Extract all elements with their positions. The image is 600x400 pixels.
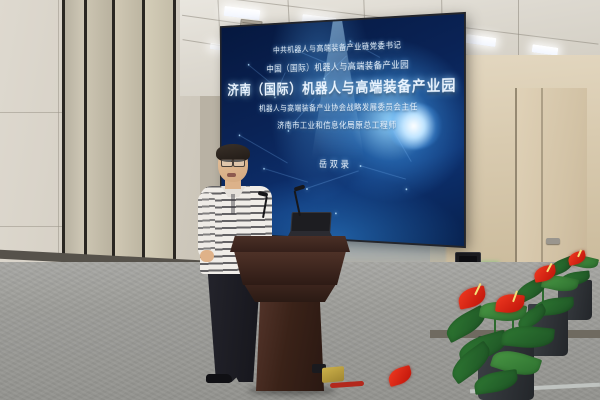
wall-panel-1 [62,0,84,268]
door-handle-icon[interactable] [546,238,560,244]
podium [230,236,350,386]
presenter-shoe [206,374,232,383]
screen-line-2: 中国（国际）机器人与高端装备产业园 [222,55,464,76]
podium-top [230,236,350,252]
screen-line-5: 济南市工业和信息化局原总工程师 [222,118,464,131]
power-box [322,366,344,383]
screen-title: 济南（国际）机器人与高端装备产业园 [222,74,464,99]
podium-column [256,301,324,391]
screenshot-root: 中共机器人与高端装备产业链党委书记 中国（国际）机器人与高端装备产业园 济南（国… [0,0,600,400]
screen-line-1: 中共机器人与高端装备产业链党委书记 [222,36,464,58]
wall-panel-3 [112,0,142,276]
laptop[interactable] [288,212,332,238]
potted-plants [430,252,600,400]
podium-front [234,251,346,285]
presenter-hand [200,250,214,262]
screen-line-4: 机器人与高端装备产业协会战略发展委员会主任 [222,100,464,114]
presenter-arm [198,192,215,258]
wall-panel-2 [84,0,112,272]
podium-base [244,284,336,302]
ceiling-light-4 [466,34,497,47]
wall-panel-4 [142,0,176,280]
